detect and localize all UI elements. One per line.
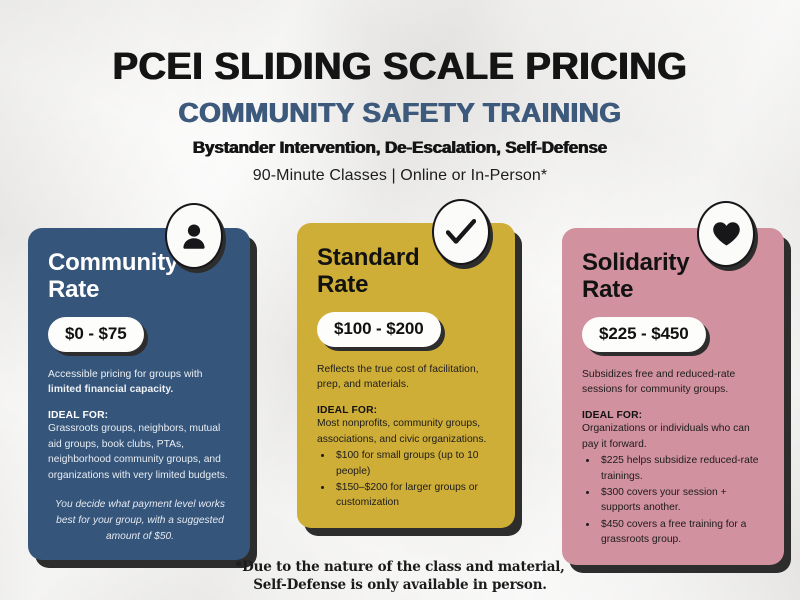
infographic-root: PCEI SLIDING SCALE PRICING COMMUNITY SAF… [0,0,800,600]
description-plain: Accessible pricing for groups with [48,369,203,380]
price-badge-solidarity: $225 - $450 [582,317,706,352]
pricing-card-standard[interactable]: StandardRate $100 - $200 Reflects the tr… [297,223,515,528]
card-note-community: You decide what payment level works best… [48,497,232,544]
ideal-for-label-standard: IDEAL FOR: [317,405,497,416]
format-line: 90-Minute Classes | Online or In-Person* [0,167,800,185]
ideal-for-body-community: Grassroots groups, neighbors, mutual aid… [48,421,232,483]
list-item: $225 helps subsidize reduced-rate traini… [598,453,766,484]
pricing-card-community[interactable]: CommunityRate $0 - $75 Accessible pricin… [28,228,250,560]
list-item: $300 covers your session + supports anot… [598,485,766,516]
heart-icon [697,201,755,267]
description-bold: limited financial capacity. [48,384,173,395]
price-badge-community: $0 - $75 [48,317,144,352]
check-icon [432,199,490,265]
list-item: $450 covers a free training for a grassr… [598,517,766,548]
page-title: PCEI SLIDING SCALE PRICING [0,48,800,88]
footer-line-2: Self-Defense is only available in person… [0,576,800,594]
price-badge-standard: $100 - $200 [317,312,441,347]
topics-line: Bystander Intervention, De-Escalation, S… [0,138,800,158]
ideal-for-body-solidarity: Organizations or individuals who can pay… [582,421,766,452]
card-description-solidarity: Subsidizes free and reduced-rate session… [582,367,766,397]
person-icon [165,203,223,269]
card-description-standard: Reflects the true cost of facilitation, … [317,362,497,392]
card-description-community: Accessible pricing for groups with limit… [48,367,232,397]
footer-disclaimer: *Due to the nature of the class and mate… [0,558,800,594]
footer-line-1: *Due to the nature of the class and mate… [0,558,800,576]
list-item: $100 for small groups (up to 10 people) [333,448,497,479]
pricing-card-solidarity[interactable]: SolidarityRate $225 - $450 Subsidizes fr… [562,228,784,565]
page-subtitle: COMMUNITY SAFETY TRAINING [0,98,800,127]
ideal-for-body-standard: Most nonprofits, community groups, assoc… [317,416,497,447]
list-item: $150–$200 for larger groups or customiza… [333,480,497,511]
bullet-list-standard: $100 for small groups (up to 10 people)$… [333,448,497,511]
bullet-list-solidarity: $225 helps subsidize reduced-rate traini… [598,453,766,548]
ideal-for-label-solidarity: IDEAL FOR: [582,410,766,421]
ideal-for-label-community: IDEAL FOR: [48,410,232,421]
header: PCEI SLIDING SCALE PRICING COMMUNITY SAF… [0,48,800,185]
